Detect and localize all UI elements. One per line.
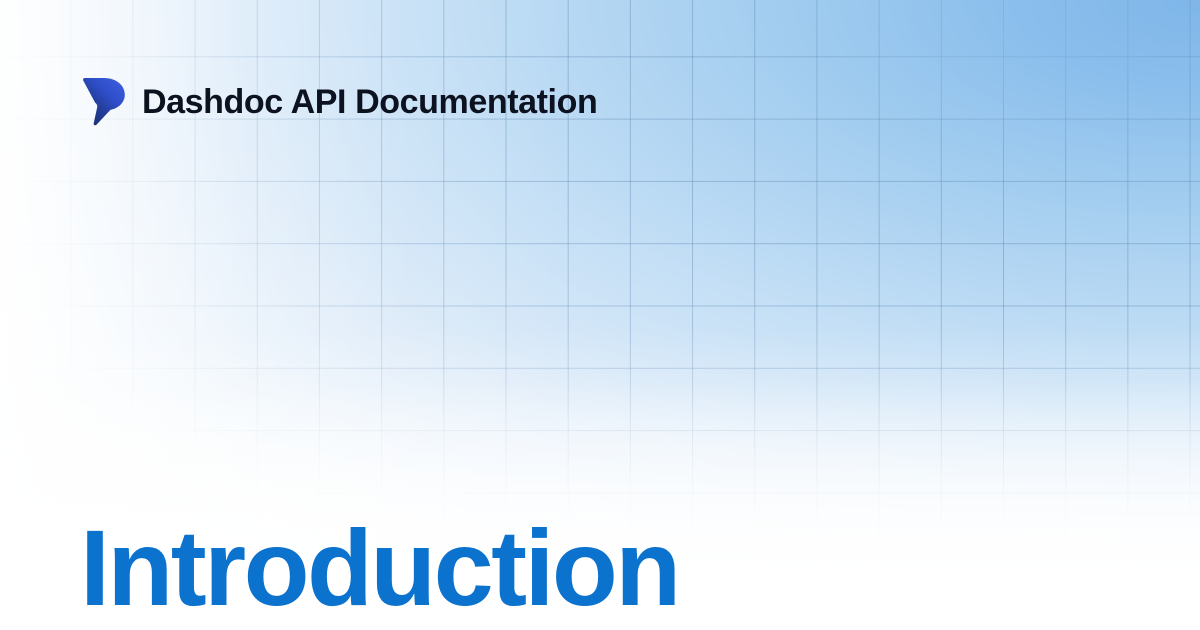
brand-title: Dashdoc API Documentation [142,85,597,119]
og-social-card: Dashdoc API Documentation Introduction [0,0,1200,630]
page-title: Introduction [80,510,679,627]
brand-header: Dashdoc API Documentation [82,76,597,128]
dashdoc-pennant-logo-icon [82,77,126,127]
